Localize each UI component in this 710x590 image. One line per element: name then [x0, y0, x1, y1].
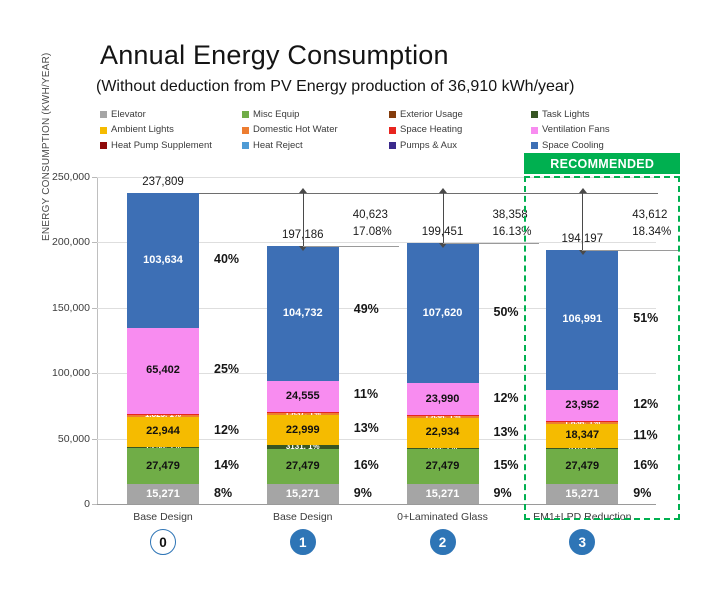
- bar-segment[interactable]: 15,271: [407, 484, 479, 504]
- y-axis-tick-label: 250,000: [52, 171, 90, 183]
- legend-label: Misc Equip: [253, 110, 299, 120]
- bar-segment-label: 15,271: [146, 489, 180, 500]
- legend-label: Exterior Usage: [400, 110, 463, 120]
- segment-percent-label: 11%: [354, 387, 378, 401]
- legend-label: Ambient Lights: [111, 125, 174, 135]
- legend-label: Task Lights: [542, 110, 590, 120]
- legend-item[interactable]: Domestic Hot Water: [242, 125, 389, 135]
- stacked-bar[interactable]: 15,27127,4793131, 1%22,9991,837, 1%24,55…: [267, 246, 339, 504]
- segment-percent-label: 12%: [494, 391, 519, 405]
- y-axis-tick-mark: [92, 242, 97, 243]
- bar-segment-label: 1,825, 1%: [145, 414, 181, 416]
- arrow-head-up-icon: [439, 188, 447, 193]
- y-axis-tick-mark: [92, 373, 97, 374]
- legend-item[interactable]: Task Lights: [531, 110, 656, 120]
- bar-segment-label: 3131, 1%: [286, 445, 320, 449]
- recommended-badge: RECOMMENDED: [524, 153, 680, 174]
- chart-title: Annual Energy Consumption: [100, 40, 449, 71]
- bar-segment-label: 24,555: [286, 391, 320, 402]
- bar-group[interactable]: 15,27127,4791,253, 1%22,9441,825, 1%65,4…: [127, 193, 199, 504]
- legend-swatch-icon: [389, 111, 396, 118]
- savings-callout: 40,62317.08%: [353, 207, 392, 242]
- bar-segment[interactable]: 24,555: [267, 381, 339, 413]
- bar-segment[interactable]: 15,271: [267, 484, 339, 504]
- legend-swatch-icon: [242, 142, 249, 149]
- y-axis-tick-mark: [92, 504, 97, 505]
- savings-amount: 40,623: [353, 207, 392, 224]
- y-axis-tick-label: 50,000: [58, 433, 90, 445]
- plot-area: ENERGY CONSUMPTION (KWH/YEAR) 050,000100…: [97, 177, 656, 505]
- bar-segment[interactable]: 1,253, 1%: [127, 447, 199, 449]
- legend-swatch-icon: [100, 111, 107, 118]
- chart-root: Annual Energy Consumption (Without deduc…: [0, 0, 710, 590]
- segment-percent-label: 16%: [354, 458, 379, 472]
- legend-swatch-icon: [389, 142, 396, 149]
- bar-segment[interactable]: [407, 415, 479, 416]
- segment-percent-label: 9%: [354, 486, 372, 500]
- legend-label: Elevator: [111, 110, 146, 120]
- legend-label: Heat Reject: [253, 141, 303, 151]
- y-axis-tick-label: 0: [84, 498, 90, 510]
- legend-item[interactable]: Space Heating: [389, 125, 531, 135]
- segment-percent-label: 9%: [494, 486, 512, 500]
- bar-segment-label: 27,479: [426, 461, 460, 472]
- savings-arrow: [303, 193, 304, 246]
- segment-percent-label: 15%: [494, 458, 519, 472]
- bar-segment-label: 1,838, 1%: [424, 416, 460, 418]
- stacked-bar[interactable]: 15,27127,4791,253, 1%22,9441,825, 1%65,4…: [127, 193, 199, 504]
- bar-segment[interactable]: 1,825, 1%: [127, 414, 199, 416]
- bar-total-label: 237,809: [142, 176, 184, 188]
- bar-group[interactable]: 15,27127,479313, 1%22,9341,838, 1%23,990…: [407, 243, 479, 504]
- segment-percent-label: 40%: [214, 252, 239, 266]
- legend-label: Space Heating: [400, 125, 462, 135]
- arrow-head-up-icon: [299, 188, 307, 193]
- bar-segment-label: 65,402: [146, 365, 180, 376]
- x-axis-category-label: 0+Laminated Glass: [373, 511, 513, 523]
- legend-item[interactable]: Heat Reject: [242, 141, 389, 151]
- legend-item[interactable]: Exterior Usage: [389, 110, 531, 120]
- y-axis-line: [97, 177, 98, 505]
- y-axis-tick-mark: [92, 439, 97, 440]
- bar-segment-label: 27,479: [286, 461, 320, 472]
- y-axis-tick-label: 150,000: [52, 302, 90, 314]
- bar-segment-label: 22,934: [426, 427, 460, 438]
- y-axis-title: ENERGY CONSUMPTION (KWH/YEAR): [41, 41, 52, 241]
- legend-item[interactable]: Heat Pump Supplement: [100, 141, 242, 151]
- bar-segment[interactable]: 22,934: [407, 418, 479, 448]
- bar-segment[interactable]: 104,732: [267, 246, 339, 381]
- legend-item[interactable]: Elevator: [100, 110, 242, 120]
- y-axis-tick-label: 200,000: [52, 236, 90, 248]
- bar-group[interactable]: 15,27127,4793131, 1%22,9991,837, 1%24,55…: [267, 246, 339, 504]
- segment-percent-label: 12%: [214, 423, 239, 437]
- stacked-bar[interactable]: 15,27127,479313, 1%22,9341,838, 1%23,990…: [407, 243, 479, 504]
- legend-swatch-icon: [531, 111, 538, 118]
- bar-segment[interactable]: 1,837, 1%: [267, 413, 339, 415]
- bar-segment[interactable]: 1,838, 1%: [407, 416, 479, 418]
- bar-segment[interactable]: 65,402: [127, 328, 199, 413]
- bar-segment[interactable]: 27,479: [127, 448, 199, 484]
- bar-segment-label: 15,271: [426, 489, 460, 500]
- bar-segment[interactable]: 107,620: [407, 243, 479, 383]
- savings-arrow: [443, 193, 444, 243]
- bar-segment-label: 1,837, 1%: [285, 413, 321, 415]
- bar-segment[interactable]: 27,479: [407, 448, 479, 484]
- legend-item[interactable]: Misc Equip: [242, 110, 389, 120]
- bar-segment-label: 27,479: [146, 461, 180, 472]
- legend-label: Heat Pump Supplement: [111, 141, 212, 151]
- legend-swatch-icon: [389, 127, 396, 134]
- chart-legend: ElevatorMisc EquipExterior UsageTask Lig…: [100, 107, 656, 153]
- legend-swatch-icon: [100, 142, 107, 149]
- segment-percent-label: 14%: [214, 458, 239, 472]
- bar-segment[interactable]: 22,944: [127, 417, 199, 447]
- legend-item[interactable]: Space Cooling: [531, 141, 656, 151]
- bar-segment-label: 23,990: [426, 394, 460, 405]
- x-axis-step-badge[interactable]: 1: [290, 529, 316, 555]
- legend-swatch-icon: [531, 142, 538, 149]
- recommended-highlight-box: [524, 176, 680, 520]
- bar-top-reference-line: [303, 246, 399, 247]
- segment-percent-label: 13%: [354, 421, 379, 435]
- legend-label: Domestic Hot Water: [253, 125, 338, 135]
- bar-segment-label: 15,271: [286, 489, 320, 500]
- legend-swatch-icon: [531, 127, 538, 134]
- chart-subtitle: (Without deduction from PV Energy produc…: [96, 78, 574, 96]
- bar-segment-label: 22,944: [146, 426, 180, 437]
- legend-swatch-icon: [100, 127, 107, 134]
- legend-item[interactable]: Pumps & Aux: [389, 141, 531, 151]
- x-axis-step-badge[interactable]: 3: [569, 529, 595, 555]
- x-axis-category-label: Base Design: [93, 511, 233, 523]
- bar-segment[interactable]: 23,990: [407, 383, 479, 414]
- bar-segment[interactable]: 22,999: [267, 415, 339, 445]
- bar-segment[interactable]: 15,271: [127, 484, 199, 504]
- x-axis-category-label: Base Design: [233, 511, 373, 523]
- bar-segment-label: 1,253, 1%: [145, 447, 181, 449]
- legend-item[interactable]: Ambient Lights: [100, 125, 242, 135]
- y-axis-tick-label: 100,000: [52, 367, 90, 379]
- savings-percent: 17.08%: [353, 224, 392, 241]
- bar-segment-label: 103,634: [143, 255, 183, 266]
- segment-percent-label: 25%: [214, 362, 239, 376]
- segment-percent-label: 49%: [354, 302, 379, 316]
- bar-segment[interactable]: [127, 414, 199, 415]
- legend-swatch-icon: [242, 111, 249, 118]
- bar-segment[interactable]: 3131, 1%: [267, 445, 339, 449]
- segment-percent-label: 50%: [494, 305, 519, 319]
- bar-segment-label: 22,999: [286, 425, 320, 436]
- bar-segment-label: 104,732: [283, 308, 323, 319]
- bar-segment[interactable]: 103,634: [127, 193, 199, 328]
- segment-percent-label: 13%: [494, 425, 519, 439]
- y-axis-tick-mark: [92, 308, 97, 309]
- segment-percent-label: 8%: [214, 486, 232, 500]
- bar-segment-label: 107,620: [423, 308, 463, 319]
- x-axis-step-badge[interactable]: 2: [430, 529, 456, 555]
- bar-segment[interactable]: 27,479: [267, 449, 339, 484]
- x-axis-step-badge[interactable]: 0: [150, 529, 176, 555]
- bar-segment[interactable]: [267, 412, 339, 413]
- legend-label: Pumps & Aux: [400, 141, 457, 151]
- y-axis-tick-mark: [92, 177, 97, 178]
- legend-swatch-icon: [242, 127, 249, 134]
- legend-label: Ventilation Fans: [542, 125, 610, 135]
- legend-label: Space Cooling: [542, 141, 604, 151]
- legend-item[interactable]: Ventilation Fans: [531, 125, 656, 135]
